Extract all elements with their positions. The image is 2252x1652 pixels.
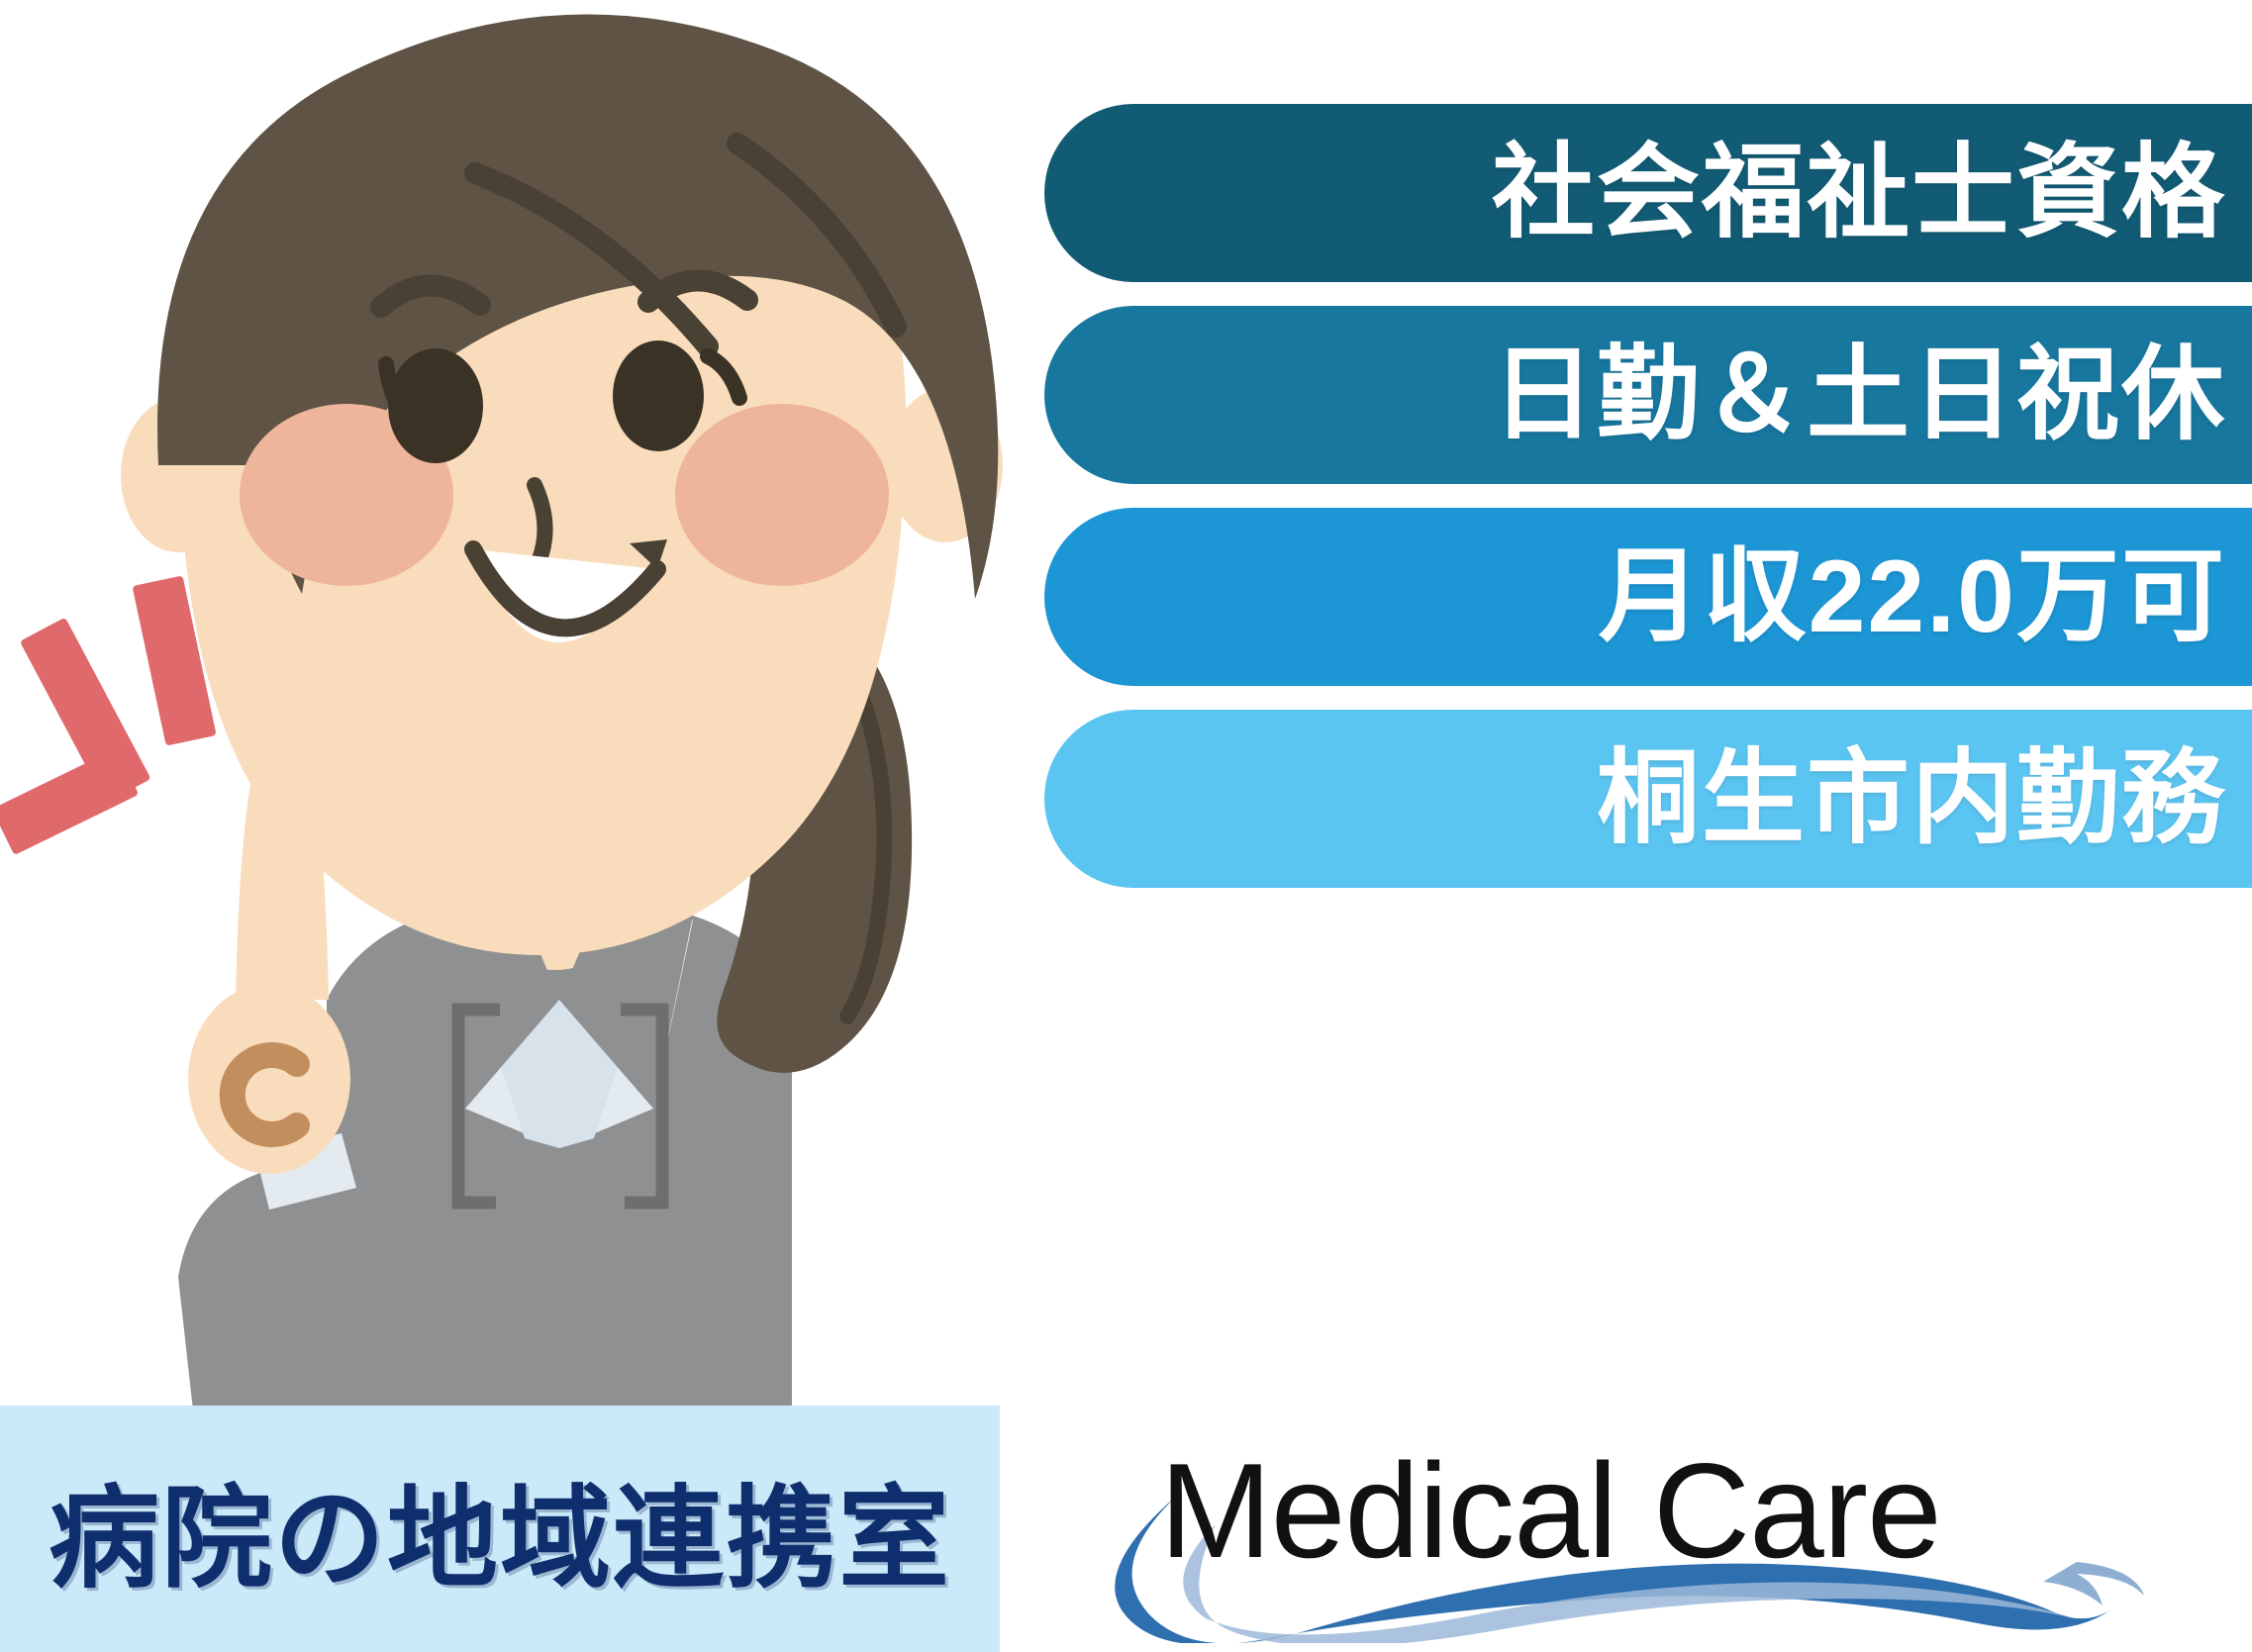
advertisement-canvas: 社会福祉士資格 日勤＆土日祝休 月収22.0万可 桐生市内勤務 病院の地域連携室…: [0, 0, 2252, 1652]
brand-logo-area: Medical Care: [1000, 1406, 2252, 1652]
job-title-banner: 病院の地域連携室: [0, 1406, 1000, 1652]
right-cheek: [675, 404, 889, 586]
badge-salary-label: 月収22.0万可: [1599, 545, 2226, 648]
highlight-badge-list: 社会福祉士資格 日勤＆土日祝休 月収22.0万可 桐生市内勤務: [1044, 104, 2252, 888]
right-eye: [613, 340, 704, 451]
badge-worktime: 日勤＆土日祝休: [1044, 306, 2252, 484]
job-title-text: 病院の地域連携室: [49, 1449, 951, 1609]
badge-qualification: 社会福祉士資格: [1044, 104, 2252, 282]
badge-qualification-label: 社会福祉士資格: [1492, 142, 2226, 244]
emphasis-lines-icon: [0, 575, 217, 855]
badge-salary: 月収22.0万可: [1044, 508, 2252, 686]
badge-location: 桐生市内勤務: [1044, 710, 2252, 888]
badge-worktime-label: 日勤＆土日祝休: [1492, 343, 2226, 446]
logo-wordmark: Medical Care: [1160, 1433, 1941, 1588]
badge-location-label: 桐生市内勤務: [1597, 747, 2226, 850]
character-illustration: [0, 0, 1049, 1455]
